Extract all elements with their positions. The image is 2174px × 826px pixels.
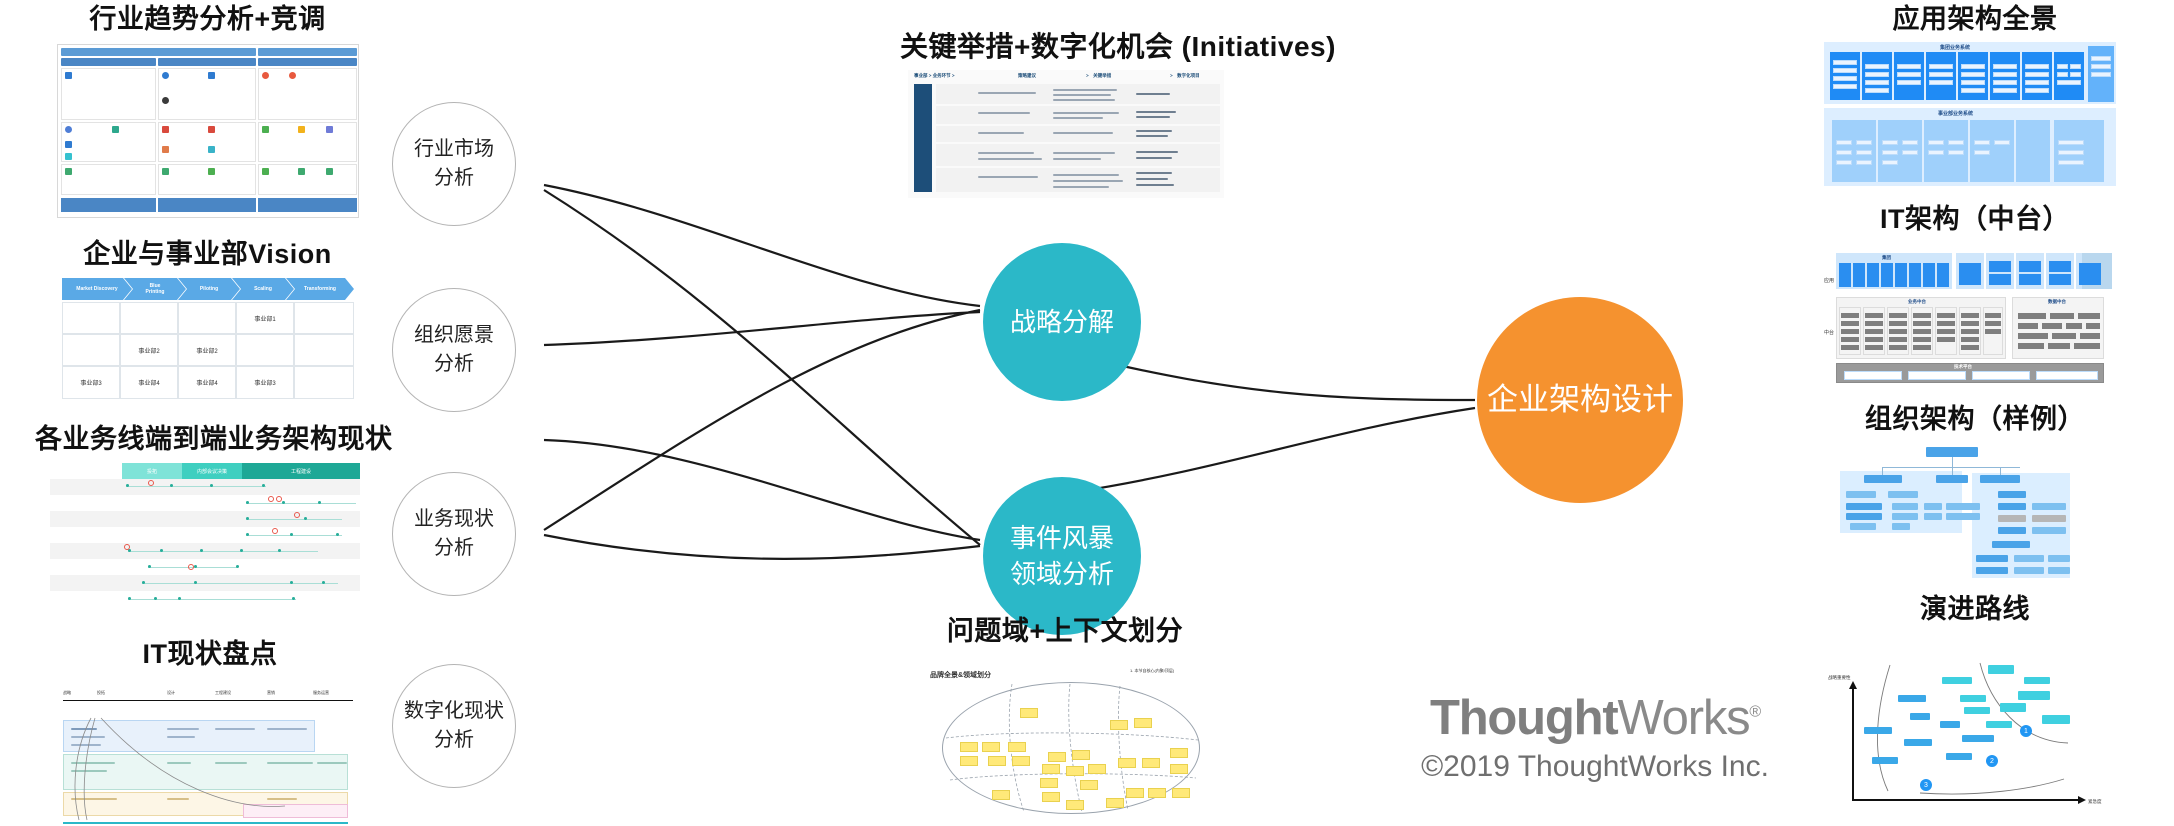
org-zone-right xyxy=(1972,473,2070,578)
sticky-note xyxy=(960,742,978,752)
org-node-product xyxy=(1924,503,1942,510)
initiatives-row xyxy=(936,126,1220,142)
unit-chip xyxy=(1836,160,1852,165)
unit-chip xyxy=(1928,150,1944,155)
initiatives-text-line xyxy=(1053,152,1115,154)
vision-cell: 事业部1 xyxy=(236,302,294,334)
thumbnail-it-architecture[interactable]: 应用 中台 集团 业务中台 xyxy=(1820,245,2120,385)
vision-cell: 事业部2 xyxy=(120,334,178,366)
valuestream-track xyxy=(128,551,318,552)
data-chip xyxy=(2018,343,2044,349)
org-node-child xyxy=(1892,523,1910,530)
vision-cell: 事业部4 xyxy=(178,366,236,399)
unit-chip xyxy=(2058,140,2084,145)
midplatform-chip xyxy=(1865,337,1883,342)
thumb-cell xyxy=(158,164,256,195)
unit-chip xyxy=(1836,150,1852,155)
sticky-note xyxy=(1170,748,1188,758)
app-icon xyxy=(262,168,269,175)
roadmap-item xyxy=(2042,715,2070,724)
system-chip xyxy=(1993,80,2017,85)
system-chip xyxy=(2025,80,2049,85)
thumb-cell xyxy=(258,164,357,195)
valuestream-node xyxy=(278,549,281,552)
app-icon xyxy=(65,168,72,175)
initiatives-text-line xyxy=(1053,180,1123,182)
unit-chip xyxy=(1836,140,1852,145)
system-chip xyxy=(1865,72,1889,77)
initiatives-text-line xyxy=(1053,112,1119,114)
initiatives-text-line xyxy=(978,92,1036,94)
unit-chip xyxy=(1974,150,1990,155)
unit-chip xyxy=(2058,160,2084,165)
valuestream-node xyxy=(282,501,285,504)
app-icon xyxy=(298,168,305,175)
org-node-child xyxy=(1892,503,1918,510)
app-icon xyxy=(162,168,169,175)
org-node-unit xyxy=(1864,475,1902,483)
initiatives-row xyxy=(936,144,1220,166)
data-chip xyxy=(2078,313,2100,319)
vision-cell xyxy=(62,334,120,366)
sticky-note xyxy=(1080,780,1098,790)
app-icon xyxy=(262,126,269,133)
org-node-hr xyxy=(1976,555,2008,562)
system-chip xyxy=(2091,72,2111,77)
roadmap-item xyxy=(2000,703,2026,712)
app-icon xyxy=(112,126,119,133)
initiatives-column-header: > 数字化项目 xyxy=(1170,73,1200,79)
system-chip xyxy=(2091,64,2111,69)
data-chip xyxy=(2052,333,2076,339)
sticky-note xyxy=(1012,756,1030,766)
initiatives-text-line xyxy=(978,132,1024,134)
thumb-cell xyxy=(61,164,156,195)
valuestream-node xyxy=(262,484,265,487)
app-icon xyxy=(262,72,269,79)
data-chip xyxy=(2018,333,2048,339)
vision-cell xyxy=(120,302,178,334)
system-chip xyxy=(2025,64,2049,69)
system-chip xyxy=(1833,60,1857,65)
it-app-block xyxy=(1937,263,1949,287)
vision-cell xyxy=(294,334,354,366)
circle-label-line1: 业务现状 xyxy=(414,505,494,534)
analysis-circle-vision[interactable]: 组织愿景 分析 xyxy=(392,288,516,412)
valuestream-node xyxy=(304,517,307,520)
sticky-note xyxy=(1072,750,1090,760)
roadmap-item xyxy=(1904,739,1932,746)
panel-title-it-architecture: IT架构（中台） xyxy=(1850,205,2100,235)
roadmap-item xyxy=(1940,721,1960,728)
unit-chip xyxy=(1856,150,1872,155)
vision-stage: BluePrinting xyxy=(124,278,186,300)
slide-canvas: 行业趋势分析+竞调 xyxy=(0,0,2174,826)
vision-cell: 事业部3 xyxy=(236,366,294,399)
sticky-note xyxy=(982,742,1000,752)
sticky-note xyxy=(1106,798,1124,808)
valuestream-node xyxy=(318,501,321,504)
thumb-footer xyxy=(61,198,156,212)
circle-label-line2: 领域分析 xyxy=(1010,556,1114,592)
system-chip xyxy=(1993,88,2017,93)
panel-title-vision: 企业与事业部Vision xyxy=(55,240,360,270)
synthesis-circle-strategy-decomposition[interactable]: 战略分解 xyxy=(983,243,1141,401)
midplatform-chip xyxy=(1961,313,1979,318)
org-node-unit xyxy=(1936,475,1968,483)
midplatform-chip xyxy=(1937,329,1955,334)
registered-mark-icon: ® xyxy=(1749,704,1760,721)
org-node-shared xyxy=(1992,541,2030,548)
panel-title-org-architecture: 组织架构（样例） xyxy=(1850,405,2100,435)
band-label-data-midplatform: 数据中台 xyxy=(2048,299,2066,305)
it-unit-block xyxy=(1989,274,2011,285)
valuestream-node xyxy=(290,533,293,536)
circle-label-line1: 数字化现状 xyxy=(404,697,504,726)
midplatform-chip xyxy=(1913,337,1931,342)
valuestream-node xyxy=(246,533,249,536)
initiatives-text-line xyxy=(1053,117,1103,119)
org-node-platform-label xyxy=(2032,527,2066,534)
analysis-circle-market[interactable]: 行业市场 分析 xyxy=(392,102,516,226)
org-node-child xyxy=(1850,523,1876,530)
thumbnail-roadmap[interactable]: 战略重要性 紧急度 1 2 3 xyxy=(1820,633,2120,826)
sticky-note xyxy=(1172,788,1190,798)
sticky-note xyxy=(1042,792,1060,802)
midplatform-chip xyxy=(1985,329,2001,334)
band-title: 事业部业务系统 xyxy=(1938,110,1973,117)
system-chip xyxy=(2025,72,2049,77)
it-app-block xyxy=(1839,263,1851,287)
valuestream-pain-point xyxy=(268,496,274,502)
roadmap-item xyxy=(1942,677,1972,684)
outcome-circle-label: 企业架构设计 xyxy=(1487,378,1673,421)
valuestream-phase: 投拓 xyxy=(122,463,182,479)
sticky-note xyxy=(1066,766,1084,776)
system-chip xyxy=(1897,64,1921,69)
roadmap-item xyxy=(1898,695,1926,702)
org-node-root xyxy=(1926,447,1978,457)
system-chip xyxy=(1833,68,1857,73)
org-node-product-name xyxy=(1946,503,1980,510)
system-chip xyxy=(2091,56,2111,61)
valuestream-node xyxy=(210,484,213,487)
band-label-group: 集团 xyxy=(1882,255,1891,261)
thumb-cell xyxy=(158,68,256,120)
thumb-header-peer xyxy=(258,48,357,56)
midplatform-chip xyxy=(1889,345,1907,350)
sticky-note xyxy=(988,756,1006,766)
thumb-subheader-1 xyxy=(61,58,156,66)
panel-title-roadmap: 演进路线 xyxy=(1870,595,2080,625)
vision-cell: 事业部4 xyxy=(120,366,178,399)
data-chip xyxy=(2066,323,2082,329)
unit-chip xyxy=(1882,140,1898,145)
org-node-sub xyxy=(2014,555,2044,562)
data-chip xyxy=(2086,323,2100,329)
org-node-product xyxy=(1924,513,1942,520)
vision-cell xyxy=(236,334,294,366)
tech-chip xyxy=(1908,371,1966,380)
app-icon xyxy=(65,72,72,79)
midplatform-chip xyxy=(1961,345,1979,350)
it-unit-block xyxy=(2019,261,2041,272)
panel-title-business-current: 各业务线端到端业务架构现状 xyxy=(35,425,380,455)
data-chip xyxy=(2050,313,2074,319)
valuestream-node xyxy=(170,484,173,487)
midplatform-chip xyxy=(1985,321,2001,326)
valuestream-node xyxy=(194,581,197,584)
system-chip xyxy=(1897,80,1921,85)
branding-block: ThoughtWorks® ©2019 ThoughtWorks Inc. xyxy=(1385,690,1805,784)
valuestream-node xyxy=(246,501,249,504)
system-chip xyxy=(1897,72,1921,77)
system-chip xyxy=(1929,80,1953,85)
midplatform-chip xyxy=(1889,329,1907,334)
org-node-finance xyxy=(1976,567,2008,574)
midplatform-chip xyxy=(1937,337,1955,342)
initiatives-column-header: > 关键举措 xyxy=(1086,73,1111,79)
thumbnail-business-current[interactable]: 投拓 内部会议决策 工程建设 xyxy=(50,463,360,611)
system-chip xyxy=(2057,64,2068,69)
roadmap-item xyxy=(1872,757,1898,764)
midplatform-chip xyxy=(1961,321,1979,326)
valuestream-node xyxy=(148,565,151,568)
thumb-subheader-2 xyxy=(158,58,256,66)
valuestream-node xyxy=(128,597,131,600)
system-chip xyxy=(1833,84,1857,89)
panel-title-initiatives: 关键举措+数字化机会 (Initiatives) xyxy=(900,32,1300,63)
app-icon xyxy=(208,72,215,79)
circle-label-line1: 事件风暴 xyxy=(1010,520,1114,556)
data-chip xyxy=(2074,343,2100,349)
system-chip xyxy=(1961,80,1985,85)
midplatform-chip xyxy=(1841,321,1859,326)
sticky-note xyxy=(1134,718,1152,728)
roadmap-item xyxy=(1964,707,1990,714)
it-app-block xyxy=(1909,263,1921,287)
org-node-platform-highlight xyxy=(1998,515,2026,522)
midplatform-chip xyxy=(1937,313,1955,318)
roadmap-item xyxy=(1986,721,2012,728)
outcome-circle-enterprise-architecture[interactable]: 企业架构设计 xyxy=(1477,297,1683,503)
vision-stage: Market Discovery xyxy=(62,278,132,300)
midplatform-chip xyxy=(1985,313,2001,318)
unit-chip xyxy=(1856,160,1872,165)
initiatives-text-line xyxy=(1136,157,1172,159)
sticky-note xyxy=(1126,788,1144,798)
axis-label-midplatform: 中台 xyxy=(1824,329,1834,336)
org-node-sub xyxy=(2014,567,2044,574)
app-icon xyxy=(162,126,169,133)
copyright-text: ©2019 ThoughtWorks Inc. xyxy=(1385,750,1805,784)
app-icon xyxy=(162,146,169,153)
app-icon xyxy=(65,126,72,133)
initiatives-text-line xyxy=(1136,130,1172,132)
circle-label-line1: 组织愿景 xyxy=(414,321,494,350)
unit-chip xyxy=(1974,140,1990,145)
panel-title-problem-domain: 问题域+上下文划分 xyxy=(940,617,1190,647)
initiatives-text-line xyxy=(1053,186,1109,188)
thumbnail-it-current[interactable]: 战略 投拓 设计 工程建设 营销 服务运营 xyxy=(55,678,360,826)
synthesis-circle-event-storming[interactable]: 事件风暴 领域分析 xyxy=(983,477,1141,635)
circle-label-line1: 行业市场 xyxy=(414,135,494,164)
vision-cell xyxy=(294,302,354,334)
midplatform-chip xyxy=(1889,321,1907,326)
roadmap-item xyxy=(1946,753,1972,760)
valuestream-track xyxy=(142,583,338,584)
midplatform-chip xyxy=(1961,329,1979,334)
valuestream-node xyxy=(246,517,249,520)
system-chip xyxy=(1961,88,1985,93)
initiatives-side-band xyxy=(914,84,932,192)
sticky-note xyxy=(1042,764,1060,774)
band-title: 集团业务系统 xyxy=(1940,44,1970,51)
thumbnail-org-architecture[interactable] xyxy=(1820,443,2120,583)
roadmap-wave-3: 3 xyxy=(1920,779,1932,791)
midplatform-chip xyxy=(1841,329,1859,334)
midplatform-chip xyxy=(1865,345,1883,350)
system-chip xyxy=(1865,64,1889,69)
it-unit-block xyxy=(2049,274,2071,285)
unit-chip xyxy=(2058,150,2084,155)
sticky-note xyxy=(1040,778,1058,788)
org-node-platform xyxy=(1998,503,2026,510)
circle-label-line1: 战略分解 xyxy=(1010,304,1114,340)
midplatform-chip xyxy=(1841,345,1859,350)
it-app-block xyxy=(1853,263,1865,287)
roadmap-item xyxy=(1962,735,1994,742)
valuestream-node xyxy=(194,565,197,568)
analysis-circle-digitization[interactable]: 数字化现状 分析 xyxy=(392,664,516,788)
thumb-cell xyxy=(158,122,256,162)
app-icon xyxy=(65,153,72,160)
roadmap-item xyxy=(2024,677,2050,684)
initiatives-text-line xyxy=(1136,135,1168,137)
valuestream-track xyxy=(126,486,266,487)
it-unit-block xyxy=(2079,263,2101,285)
initiatives-text-line xyxy=(1136,111,1176,113)
data-chip xyxy=(2080,333,2100,339)
initiatives-text-line xyxy=(1136,178,1168,180)
thumb-cell xyxy=(61,68,156,120)
unit-chip xyxy=(1994,140,2010,145)
tech-chip xyxy=(2036,371,2098,380)
thumbnail-vision[interactable]: Market Discovery BluePrinting Piloting S… xyxy=(62,278,354,399)
thumb-footer xyxy=(258,198,357,212)
valuestream-node xyxy=(142,581,145,584)
sticky-note xyxy=(1020,708,1038,718)
midplatform-chip xyxy=(1937,321,1955,326)
vision-stage: Scaling xyxy=(232,278,294,300)
circle-label-line2: 分析 xyxy=(434,350,474,379)
it-app-block xyxy=(1881,263,1893,287)
initiatives-text-line xyxy=(1136,116,1170,118)
system-chip xyxy=(1993,72,2017,77)
it-flow-arrows xyxy=(55,678,360,826)
org-node-child xyxy=(1846,513,1882,520)
initiatives-text-line xyxy=(978,112,1030,114)
sticky-note xyxy=(1088,764,1106,774)
sticky-note xyxy=(1142,758,1160,768)
initiatives-text-line xyxy=(1136,151,1178,153)
roadmap-item xyxy=(1864,727,1892,734)
thumbnail-initiatives[interactable]: 事业部 > 业务环节 > 策略建议 > 关键举措 > 数字化项目 xyxy=(908,70,1224,198)
sticky-note xyxy=(1048,752,1066,762)
system-chip xyxy=(2070,72,2081,77)
thumb-cell xyxy=(61,122,156,162)
thumbnail-problem-domain[interactable]: 品牌全景&领域划分 1. 本节自核心(内聚/顶层) xyxy=(920,660,1220,820)
sticky-note xyxy=(1008,742,1026,752)
thumb-header-realestate xyxy=(61,48,256,56)
thumb-cell xyxy=(258,68,357,120)
sticky-note xyxy=(1148,788,1166,798)
roadmap-wave-1: 1 xyxy=(2020,725,2032,737)
org-link xyxy=(2000,467,2001,475)
initiatives-text-line xyxy=(1136,93,1170,95)
midplatform-chip xyxy=(1913,329,1931,334)
unit-chip xyxy=(1948,140,1964,145)
initiatives-text-line xyxy=(1053,94,1111,96)
thumbnail-app-landscape[interactable]: 集团业务系统 xyxy=(1820,40,2120,190)
sticky-note xyxy=(992,790,1010,800)
app-icon xyxy=(326,168,333,175)
vision-cell: 事业部3 xyxy=(62,366,120,399)
valuestream-phase: 内部会议决策 xyxy=(182,463,242,479)
unit-chip xyxy=(1948,150,1964,155)
org-node-platform xyxy=(1998,491,2026,498)
logo-light-part: Works xyxy=(1617,691,1749,745)
valuestream-node xyxy=(322,581,325,584)
sticky-note xyxy=(1110,720,1128,730)
valuestream-node xyxy=(290,581,293,584)
unit-column xyxy=(2016,120,2050,182)
midplatform-chip xyxy=(1865,313,1883,318)
initiatives-text-line xyxy=(1136,184,1174,186)
system-chip xyxy=(2057,72,2068,77)
midplatform-chip xyxy=(1913,321,1931,326)
unit-chip xyxy=(1902,150,1918,155)
midplatform-chip xyxy=(1865,321,1883,326)
valuestream-pain-point xyxy=(124,544,130,550)
roadmap-wave-2: 2 xyxy=(1986,755,1998,767)
analysis-circle-business[interactable]: 业务现状 分析 xyxy=(392,472,516,596)
unit-chip xyxy=(1882,160,1898,165)
midplatform-chip xyxy=(1961,337,1979,342)
circle-label-line2: 分析 xyxy=(434,164,474,193)
thumb-footer xyxy=(158,198,256,212)
org-node-child xyxy=(1888,491,1918,498)
org-link xyxy=(1882,467,1883,475)
vision-stage: Piloting xyxy=(178,278,240,300)
valuestream-pain-point xyxy=(148,480,154,486)
roadmap-item xyxy=(1960,695,1986,702)
valuestream-pain-point xyxy=(272,528,278,534)
it-unit-block xyxy=(1959,263,1981,285)
valuestream-node xyxy=(160,549,163,552)
midplatform-chip xyxy=(1913,313,1931,318)
valuestream-node xyxy=(178,597,181,600)
valuestream-track xyxy=(246,519,342,520)
initiatives-row xyxy=(936,106,1220,124)
org-node-sub xyxy=(2048,567,2070,574)
valuestream-track xyxy=(246,503,356,504)
valuestream-node xyxy=(154,597,157,600)
thumbnail-industry-trend[interactable] xyxy=(57,44,359,218)
valuestream-node xyxy=(126,484,129,487)
org-node-product-name xyxy=(1946,513,1980,520)
unit-chip xyxy=(1856,140,1872,145)
